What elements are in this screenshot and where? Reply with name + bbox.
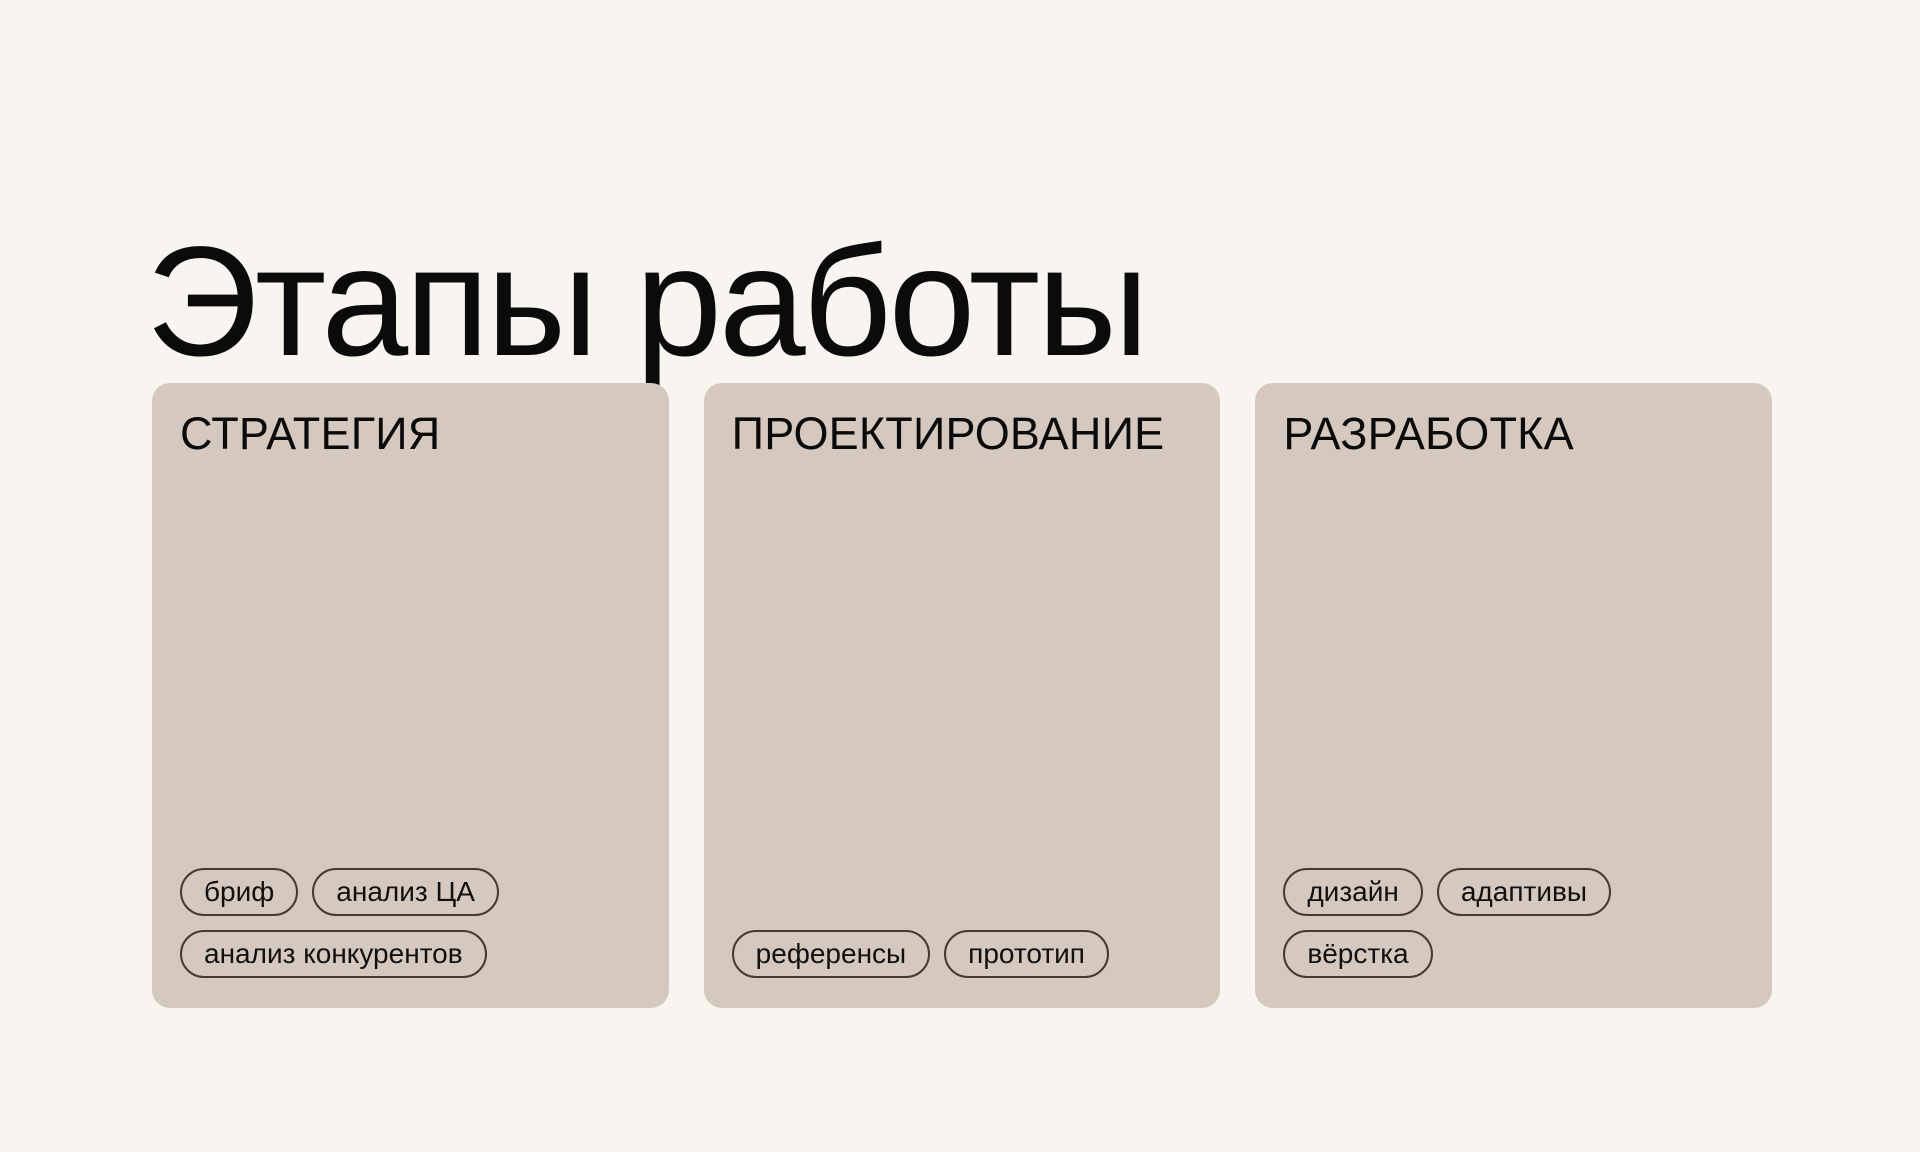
stage-card-title: ПРОЕКТИРОВАНИЕ xyxy=(732,409,1193,459)
stage-tag-list: референсы прототип xyxy=(732,930,1193,978)
stage-card-strategy[interactable]: СТРАТЕГИЯ бриф анализ ЦА анализ конкурен… xyxy=(152,383,669,1008)
stage-tag[interactable]: вёрстка xyxy=(1283,930,1432,978)
stage-card-title: РАЗРАБОТКА xyxy=(1283,409,1744,459)
stage-tag[interactable]: анализ конкурентов xyxy=(180,930,487,978)
stage-tag-list: бриф анализ ЦА анализ конкурентов xyxy=(180,868,641,978)
stage-tag[interactable]: референсы xyxy=(732,930,931,978)
slide-canvas: Этапы работы СТРАТЕГИЯ бриф анализ ЦА ан… xyxy=(0,0,1920,1152)
page-title: Этапы работы xyxy=(146,223,1146,382)
stage-tag[interactable]: дизайн xyxy=(1283,868,1423,916)
stage-tag[interactable]: анализ ЦА xyxy=(312,868,499,916)
stage-card-development[interactable]: РАЗРАБОТКА дизайн адаптивы вёрстка xyxy=(1255,383,1772,1008)
stage-tag[interactable]: адаптивы xyxy=(1437,868,1611,916)
stage-tag[interactable]: прототип xyxy=(944,930,1109,978)
stages-card-row: СТРАТЕГИЯ бриф анализ ЦА анализ конкурен… xyxy=(152,383,1772,1008)
stage-card-design-planning[interactable]: ПРОЕКТИРОВАНИЕ референсы прототип xyxy=(704,383,1221,1008)
stage-tag[interactable]: бриф xyxy=(180,868,298,916)
card-spacer xyxy=(180,459,641,869)
stage-card-title: СТРАТЕГИЯ xyxy=(180,409,641,459)
card-spacer xyxy=(1283,459,1744,869)
stage-tag-list: дизайн адаптивы вёрстка xyxy=(1283,868,1744,978)
card-spacer xyxy=(732,459,1193,931)
